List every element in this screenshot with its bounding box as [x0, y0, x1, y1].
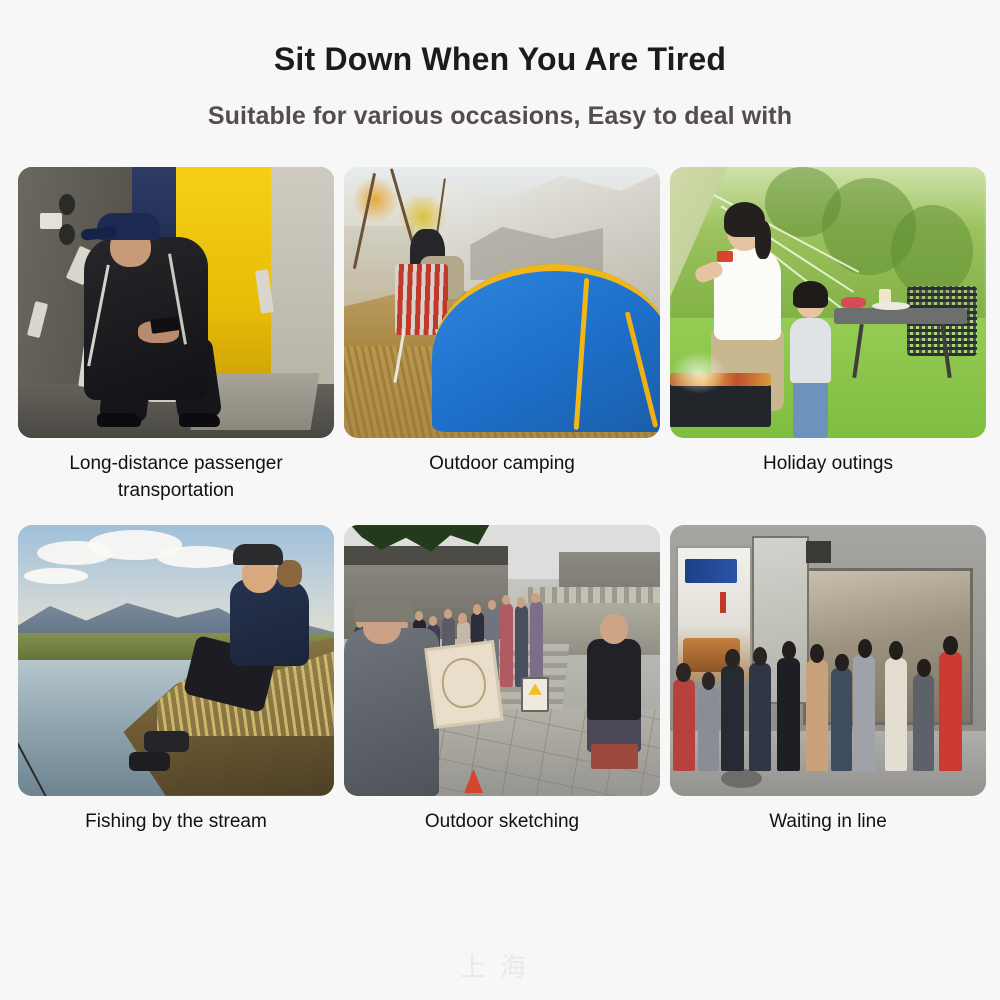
boy-jeans — [793, 378, 828, 438]
onlooker-head — [531, 593, 539, 603]
queue-person-head — [676, 663, 690, 682]
photo-outdoor-camping — [344, 167, 660, 438]
sketch-canvas — [425, 640, 504, 729]
angler-shoe — [129, 752, 170, 771]
angler-cap — [233, 544, 284, 566]
grill-smoke — [670, 351, 727, 394]
onlooker-head — [488, 600, 496, 610]
building-roof — [344, 546, 508, 565]
queue-person — [853, 655, 875, 772]
card-caption: Fishing by the stream — [85, 808, 267, 836]
photo-waiting-in-line — [670, 525, 986, 796]
onlooker — [530, 601, 543, 687]
page-subtitle: Suitable for various occasions, Easy to … — [0, 103, 1000, 131]
sitter-head — [600, 614, 628, 644]
card-caption: Long-distance passenger transportation — [26, 450, 326, 505]
baseball-cap — [97, 213, 160, 240]
train-knob-upper — [59, 194, 75, 216]
onlooker — [500, 603, 513, 687]
onlooker — [515, 605, 528, 687]
card-caption: Outdoor sketching — [425, 808, 579, 836]
queue-person-head — [753, 647, 767, 666]
portable-stool — [591, 744, 638, 768]
onlooker-head — [473, 604, 481, 614]
card-caption: Outdoor camping — [429, 450, 575, 478]
queue-person — [913, 674, 934, 772]
train-knob-lower — [59, 224, 75, 246]
queue-person-head — [858, 639, 872, 658]
boy-torso — [790, 318, 831, 383]
angler-torso — [230, 579, 309, 666]
warning-sign — [521, 677, 549, 712]
woman-ponytail — [755, 221, 771, 259]
queue-person — [939, 652, 963, 771]
queue-person-head — [835, 654, 848, 672]
watermark: 上海 — [0, 947, 1000, 984]
use-case-card-waiting-in-line[interactable]: Waiting in line — [670, 525, 986, 836]
artist-flat-cap — [353, 601, 413, 623]
woman-torso — [714, 248, 780, 340]
manhole-cover — [721, 769, 762, 788]
angler-shoe — [144, 731, 188, 753]
queue-person — [721, 666, 745, 772]
poster-arrow — [720, 592, 726, 613]
use-case-card-sketching[interactable]: Outdoor sketching — [344, 525, 660, 836]
header: Sit Down When You Are Tired Suitable for… — [0, 0, 1000, 131]
facade-vent — [806, 541, 831, 563]
page-title: Sit Down When You Are Tired — [0, 42, 1000, 77]
sitter-torso — [587, 639, 641, 720]
cloud — [157, 546, 239, 568]
poster-title-band — [685, 559, 737, 583]
card-caption: Holiday outings — [763, 450, 893, 478]
queue-person-head — [702, 672, 715, 690]
person-torso — [84, 237, 207, 400]
person-shoe — [179, 413, 220, 427]
tree-canopy — [891, 205, 973, 297]
shop-poster — [676, 546, 752, 682]
photo-train-vestibule — [18, 167, 334, 438]
queue-person — [698, 687, 719, 771]
card-caption: Waiting in line — [769, 808, 887, 836]
use-case-card-fishing[interactable]: Fishing by the stream — [18, 525, 334, 836]
onlooker-head — [458, 613, 466, 623]
use-case-grid: Long-distance passenger transportation O… — [0, 167, 1000, 836]
queue-person — [749, 663, 771, 771]
photo-fishing-stream — [18, 525, 334, 796]
boy-hair — [793, 281, 828, 308]
person-shoe — [97, 413, 141, 427]
patio-table — [834, 308, 967, 324]
queue-person-head — [917, 659, 930, 677]
queue-person — [831, 668, 852, 771]
queue-person-head — [782, 641, 796, 660]
onlooker-head — [517, 597, 525, 607]
fruit-plate — [841, 297, 866, 308]
queue-person-head — [943, 636, 958, 655]
food-skewer — [717, 251, 733, 262]
use-case-card-camping[interactable]: Outdoor camping — [344, 167, 660, 505]
use-case-card-holiday-outings[interactable]: Holiday outings — [670, 167, 986, 505]
onlooker-head — [444, 609, 452, 619]
queue-person — [885, 658, 907, 772]
queue-person — [673, 679, 695, 771]
use-case-card-long-distance[interactable]: Long-distance passenger transportation — [18, 167, 334, 505]
queue-person — [806, 660, 828, 771]
train-wall-sticker — [40, 213, 62, 229]
photo-outdoor-sketching — [344, 525, 660, 796]
photo-holiday-barbecue — [670, 167, 986, 438]
queue-person — [777, 658, 799, 772]
